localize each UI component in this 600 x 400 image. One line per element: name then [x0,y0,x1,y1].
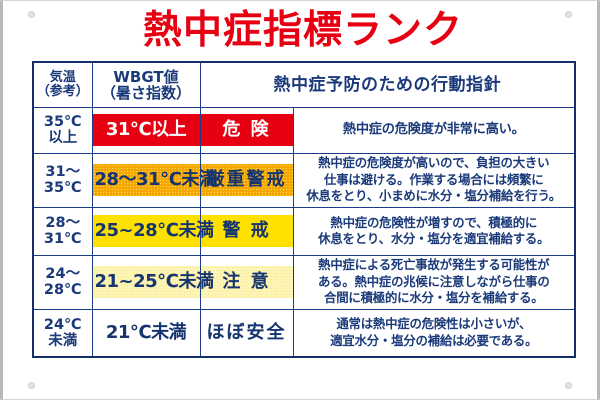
rank-badge: ほぼ安全 [201,317,293,349]
table-row: 35℃ 以上 31℃以上 危 険 熱中症の危険度が非常に高い。 [33,107,575,153]
temperature-line1: 31～ [45,164,80,180]
cell-wbgt: 25~28℃未満 [92,207,200,255]
table-row: 31～ 35℃ 28～31℃未満 厳重警戒 熱中症の危険度が高いので、負担の大き… [33,153,575,207]
cell-temperature: 28～ 31℃ [33,207,92,255]
cell-temperature: 31～ 35℃ [33,153,92,207]
rank-badge: 注 意 [201,266,293,298]
temperature-line2: 以上 [48,130,77,146]
guidance-line: 休息をとり、水分・塩分を適宜補給する。 [294,231,575,248]
cell-wbgt: 31℃以上 [92,107,200,153]
cell-guidance: 熱中症の危険度が非常に高い。 [293,107,575,153]
cell-wbgt: 21~25℃未満 [92,255,200,309]
wbgt-value: 28～31℃未満 [93,164,200,196]
guidance-line: 熱中症による死亡事故が発生する可能性が [294,257,575,274]
cell-rank: 注 意 [200,255,293,309]
poster-board: 熱中症指標ランク 気温 （参考） WBGT値 （暑さ指数） 熱中症予防のための行… [0,0,600,400]
cell-rank: ほぼ安全 [200,309,293,357]
temperature-line1: 35℃ [44,114,82,130]
rank-badge: 警 戒 [201,215,293,247]
wbgt-value: 21~25℃未満 [93,266,200,298]
temperature-line2: 35℃ [44,180,82,196]
column-header-wbgt: WBGT値 （暑さ指数） [92,62,200,107]
cell-temperature: 35℃ 以上 [33,107,92,153]
guidance-line: ある。熱中症の兆候に注意しながら仕事の [294,274,575,291]
guidance-line: 休息をとり、小まめに水分・塩分補給を行う。 [294,188,575,205]
table-header-row: 気温 （参考） WBGT値 （暑さ指数） 熱中症予防のための行動指針 [33,62,575,107]
column-header-temperature: 気温 （参考） [33,62,92,107]
cell-rank: 警 戒 [200,207,293,255]
cell-rank: 危 険 [200,107,293,153]
guidance-line: 通常は熱中症の危険性は小さいが、 [294,316,575,333]
guidance-line: 仕事は避ける。作業する場合には頻繁に [294,172,575,189]
guidance-line: 適宜水分・塩分の補給は必要である。 [294,333,575,350]
temperature-line2: 28℃ [44,282,82,298]
column-header-guidance: 熱中症予防のための行動指針 [200,62,575,107]
rank-badge: 危 険 [201,114,293,146]
mounting-hole-icon [28,382,35,389]
cell-guidance: 通常は熱中症の危険性は小さいが、 適宜水分・塩分の補給は必要である。 [293,309,575,357]
cell-guidance: 熱中症による死亡事故が発生する可能性が ある。熱中症の兆候に注意しながら仕事の … [293,255,575,309]
temperature-line1: 24～ [45,266,80,282]
temperature-line1: 28～ [45,215,80,231]
guidance-line: 熱中症の危険性が増すので、積極的に [294,215,575,232]
table-row: 28～ 31℃ 25~28℃未満 警 戒 熱中症の危険性が増すので、積極的に 休… [33,207,575,255]
mounting-hole-icon [565,382,572,389]
heat-index-rank-table: 気温 （参考） WBGT値 （暑さ指数） 熱中症予防のための行動指針 35℃ 以… [32,61,576,358]
page-title: 熱中症指標ランク [3,9,600,53]
cell-wbgt: 28～31℃未満 [92,153,200,207]
table-row: 24～ 28℃ 21~25℃未満 注 意 熱中症による死亡事故が発生する可能性が… [33,255,575,309]
guidance-line: 熱中症の危険度が非常に高い。 [294,121,575,139]
column-header-temperature-line2: （参考） [37,84,89,99]
wbgt-value: 25~28℃未満 [93,215,200,247]
temperature-line2: 31℃ [44,231,82,247]
cell-temperature: 24℃ 未満 [33,309,92,357]
guidance-line: 合間に積極的に水分・塩分を補給する。 [294,290,575,307]
cell-guidance: 熱中症の危険度が高いので、負担の大きい 仕事は避ける。作業する場合には頻繁に 休… [293,153,575,207]
cell-wbgt: 21℃未満 [92,309,200,357]
table-row: 24℃ 未満 21℃未満 ほぼ安全 通常は熱中症の危険性は小さいが、 適宜水分・… [33,309,575,357]
cell-rank: 厳重警戒 [200,153,293,207]
cell-temperature: 24～ 28℃ [33,255,92,309]
temperature-line2: 未満 [48,333,77,349]
column-header-wbgt-line2: （暑さ指数） [101,84,191,102]
wbgt-value: 31℃以上 [93,114,200,146]
wbgt-value: 21℃未満 [93,317,200,349]
column-header-temperature-line1: 気温 [50,70,76,85]
rank-badge: 厳重警戒 [201,164,293,196]
guidance-line: 熱中症の危険度が高いので、負担の大きい [294,155,575,172]
cell-guidance: 熱中症の危険性が増すので、積極的に 休息をとり、水分・塩分を適宜補給する。 [293,207,575,255]
temperature-line1: 24℃ [44,317,82,333]
